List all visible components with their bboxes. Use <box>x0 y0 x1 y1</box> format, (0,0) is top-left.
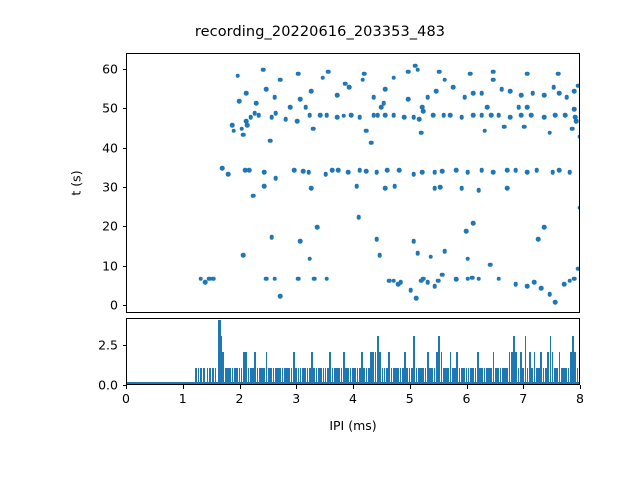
scatter-point <box>471 91 476 96</box>
scatter-point <box>251 194 256 199</box>
scatter-point <box>256 113 261 118</box>
scatter-point <box>513 282 518 287</box>
scatter-point <box>525 105 530 110</box>
scatter-point <box>578 134 579 139</box>
scatter-point <box>226 172 231 177</box>
scatter-point <box>323 172 328 177</box>
scatter-point <box>440 169 445 174</box>
x-tick <box>523 385 524 389</box>
scatter-point <box>372 95 377 100</box>
scatter-point <box>479 168 484 173</box>
scatter-point <box>553 113 558 118</box>
scatter-point <box>441 113 446 118</box>
scatter-point <box>306 170 311 175</box>
histogram-panel <box>126 318 580 385</box>
scatter-point <box>355 184 360 189</box>
scatter-point <box>530 91 535 96</box>
scatter-point <box>320 75 325 80</box>
scatter-y-tick-label: 60 <box>84 61 118 76</box>
scatter-point <box>482 129 487 134</box>
scatter-point <box>436 278 441 283</box>
scatter-point <box>415 67 420 72</box>
scatter-point <box>383 186 388 191</box>
scatter-point <box>269 235 274 240</box>
scatter-point <box>349 113 354 118</box>
scatter-point <box>496 276 501 281</box>
scatter-point <box>248 115 253 120</box>
scatter-point <box>324 113 329 118</box>
scatter-point <box>471 113 476 118</box>
scatter-point <box>576 83 579 88</box>
scatter-point <box>505 168 510 173</box>
scatter-point <box>542 225 547 230</box>
scatter-point <box>379 105 384 110</box>
scatter-point <box>496 113 501 118</box>
scatter-point <box>516 105 521 110</box>
scatter-point <box>542 93 547 98</box>
scatter-point <box>425 95 430 100</box>
scatter-point <box>489 113 494 118</box>
scatter-point <box>419 130 424 135</box>
scatter-point <box>264 87 269 92</box>
scatter-point <box>505 186 510 191</box>
scatter-plot-panel <box>126 53 580 313</box>
scatter-point <box>247 168 252 173</box>
histogram-baseline <box>127 382 579 384</box>
scatter-point <box>460 186 465 191</box>
scatter-point <box>357 168 362 173</box>
scatter-point <box>203 280 208 285</box>
scatter-point <box>269 115 274 120</box>
scatter-y-tick-label: 0 <box>84 298 118 313</box>
scatter-point <box>502 125 507 130</box>
scatter-point <box>415 251 420 256</box>
scatter-point <box>556 71 561 76</box>
scatter-point <box>356 215 361 220</box>
scatter-point <box>539 286 544 291</box>
scatter-point <box>254 101 259 106</box>
scatter-point <box>312 276 317 281</box>
scatter-point <box>364 129 369 134</box>
scatter-point <box>567 170 572 175</box>
scatter-point <box>451 85 456 90</box>
scatter-point <box>374 170 379 175</box>
scatter-point <box>231 129 236 134</box>
x-tick-label: 7 <box>508 391 538 406</box>
scatter-y-tick-label: 50 <box>84 101 118 116</box>
scatter-point <box>411 172 416 177</box>
x-axis-label: IPI (ms) <box>329 418 376 433</box>
x-tick <box>126 385 127 389</box>
scatter-point <box>572 276 577 281</box>
scatter-point <box>477 276 482 281</box>
scatter-point <box>532 280 537 285</box>
scatter-point <box>477 188 482 193</box>
histogram-bars-area <box>127 319 579 384</box>
scatter-point <box>557 91 562 96</box>
scatter-point <box>198 276 203 281</box>
scatter-y-tick-label: 20 <box>84 219 118 234</box>
scatter-point <box>547 292 552 297</box>
scatter-point <box>330 168 335 173</box>
scatter-point <box>462 95 467 100</box>
scatter-point <box>245 123 250 128</box>
scatter-point <box>278 77 283 82</box>
scatter-y-tick <box>123 69 127 70</box>
scatter-point <box>417 117 422 122</box>
scatter-point <box>298 239 303 244</box>
figure-canvas: recording_20220616_203353_483 t (s) IPI … <box>0 0 640 480</box>
scatter-point <box>307 113 312 118</box>
scatter-point <box>391 113 396 118</box>
scatter-point <box>421 276 426 281</box>
hist-y-tick <box>123 345 127 346</box>
x-tick-label: 0 <box>111 391 141 406</box>
scatter-point <box>411 239 416 244</box>
scatter-point <box>465 257 470 262</box>
scatter-point <box>237 99 242 104</box>
scatter-point <box>454 277 459 282</box>
scatter-point <box>315 225 320 230</box>
scatter-point <box>420 170 425 175</box>
scatter-point <box>421 109 426 114</box>
scatter-point <box>437 69 442 74</box>
scatter-point <box>479 113 484 118</box>
scatter-point <box>572 107 577 112</box>
scatter-y-tick <box>123 305 127 306</box>
scatter-y-tick <box>123 266 127 267</box>
scatter-point <box>244 91 249 96</box>
scatter-y-tick-label: 10 <box>84 258 118 273</box>
scatter-point <box>513 168 518 173</box>
scatter-y-tick <box>123 187 127 188</box>
scatter-y-tick <box>123 148 127 149</box>
scatter-point <box>525 284 530 289</box>
x-tick-label: 5 <box>395 391 425 406</box>
scatter-point <box>383 87 388 92</box>
x-tick <box>296 385 297 389</box>
scatter-point <box>519 93 524 98</box>
scatter-point <box>239 127 244 132</box>
scatter-point <box>296 71 301 76</box>
x-tick <box>240 385 241 389</box>
scatter-point <box>414 296 419 301</box>
scatter-point <box>468 71 473 76</box>
scatter-point <box>336 168 341 173</box>
scatter-point <box>377 253 382 258</box>
figure-title: recording_20220616_203353_483 <box>0 24 640 40</box>
scatter-point <box>448 113 453 118</box>
scatter-point <box>470 275 475 280</box>
scatter-point <box>563 113 568 118</box>
scatter-point <box>391 278 396 283</box>
scatter-point <box>428 255 433 260</box>
scatter-point <box>578 205 579 210</box>
scatter-point <box>420 105 425 110</box>
scatter-point <box>519 113 524 118</box>
scatter-point <box>298 97 303 102</box>
scatter-point <box>303 105 308 110</box>
scatter-point <box>273 176 278 181</box>
scatter-point <box>318 113 323 118</box>
scatter-point <box>529 113 534 118</box>
scatter-point <box>570 127 575 132</box>
scatter-point <box>542 115 547 120</box>
scatter-point <box>572 89 577 94</box>
x-tick-label: 6 <box>452 391 482 406</box>
scatter-point <box>432 186 437 191</box>
scatter-point <box>565 95 570 100</box>
scatter-point <box>292 168 297 173</box>
x-tick <box>580 385 581 389</box>
scatter-point <box>432 170 437 175</box>
scatter-point <box>357 115 362 120</box>
scatter-point <box>211 276 216 281</box>
scatter-point <box>562 282 567 287</box>
scatter-point <box>432 284 437 289</box>
scatter-point <box>324 276 329 281</box>
scatter-point <box>574 119 579 124</box>
scatter-point <box>341 114 346 119</box>
scatter-point <box>522 125 527 130</box>
scatter-point <box>411 115 416 120</box>
scatter-point <box>553 300 558 305</box>
scatter-point <box>301 169 306 174</box>
scatter-point <box>508 115 513 120</box>
scatter-y-tick <box>123 226 127 227</box>
scatter-point <box>264 276 269 281</box>
scatter-point <box>326 69 331 74</box>
x-tick <box>410 385 411 389</box>
scatter-point <box>406 69 411 74</box>
scatter-point <box>499 87 504 92</box>
scatter-point <box>374 237 379 242</box>
scatter-point <box>335 115 340 120</box>
x-tick-label: 4 <box>338 391 368 406</box>
scatter-point <box>262 170 267 175</box>
scatter-point <box>385 168 390 173</box>
scatter-point <box>307 257 312 262</box>
scatter-point <box>551 85 556 90</box>
scatter-point <box>397 168 402 173</box>
scatter-point <box>443 77 448 82</box>
scatter-point <box>438 185 443 190</box>
scatter-point <box>557 168 562 173</box>
scatter-point <box>288 105 293 110</box>
scatter-point <box>369 140 374 145</box>
x-tick-label: 3 <box>281 391 311 406</box>
scatter-point <box>398 280 403 285</box>
scatter-point <box>460 115 465 120</box>
scatter-point <box>241 132 246 137</box>
scatter-point <box>550 170 555 175</box>
scatter-point <box>443 249 448 254</box>
scatter-point <box>296 276 301 281</box>
scatter-point <box>525 170 530 175</box>
x-tick-label: 1 <box>168 391 198 406</box>
scatter-points-area <box>127 54 579 312</box>
scatter-point <box>471 221 476 226</box>
x-tick-label: 2 <box>225 391 255 406</box>
scatter-point <box>295 119 300 124</box>
scatter-point <box>347 85 352 90</box>
scatter-point <box>261 67 266 72</box>
scatter-point <box>376 113 381 118</box>
x-tick <box>183 385 184 389</box>
scatter-point <box>464 229 469 234</box>
scatter-point <box>346 170 351 175</box>
x-tick-label: 8 <box>565 391 595 406</box>
scatter-point <box>547 130 552 135</box>
scatter-point <box>479 91 484 96</box>
scatter-y-tick-label: 40 <box>84 140 118 155</box>
scatter-y-axis-label: t (s) <box>69 170 84 195</box>
scatter-point <box>360 77 365 82</box>
scatter-point <box>268 138 273 143</box>
scatter-point <box>391 75 396 80</box>
scatter-point <box>491 69 496 74</box>
scatter-point <box>335 93 340 98</box>
scatter-point <box>364 169 369 174</box>
scatter-point <box>309 89 314 94</box>
scatter-y-tick <box>123 108 127 109</box>
scatter-point <box>440 272 445 277</box>
scatter-point <box>525 71 530 76</box>
scatter-point <box>465 170 470 175</box>
scatter-point <box>408 288 413 293</box>
scatter-point <box>393 184 398 189</box>
scatter-point <box>383 113 388 118</box>
scatter-point <box>488 262 493 267</box>
scatter-point <box>425 280 430 285</box>
x-tick <box>353 385 354 389</box>
scatter-point <box>381 101 386 106</box>
scatter-point <box>491 170 496 175</box>
scatter-point <box>434 89 439 94</box>
scatter-point <box>536 237 541 242</box>
scatter-point <box>278 294 283 299</box>
scatter-point <box>273 111 278 116</box>
scatter-point <box>402 115 407 120</box>
scatter-point <box>235 73 240 78</box>
scatter-point <box>431 113 436 118</box>
scatter-y-tick-label: 30 <box>84 179 118 194</box>
scatter-point <box>534 168 539 173</box>
scatter-point <box>284 117 289 122</box>
scatter-point <box>262 184 267 189</box>
scatter-point <box>311 127 316 132</box>
scatter-point <box>491 77 496 82</box>
scatter-point <box>406 97 411 102</box>
x-tick <box>467 385 468 389</box>
scatter-point <box>241 253 246 258</box>
scatter-point <box>309 186 314 191</box>
scatter-point <box>272 276 277 281</box>
scatter-point <box>220 166 225 171</box>
scatter-point <box>230 123 235 128</box>
scatter-point <box>454 168 459 173</box>
scatter-point <box>362 71 367 76</box>
hist-y-tick-label: 2.5 <box>82 338 118 353</box>
scatter-point <box>485 105 490 110</box>
scatter-point <box>272 95 277 100</box>
scatter-point <box>576 266 579 271</box>
scatter-point <box>508 89 513 94</box>
